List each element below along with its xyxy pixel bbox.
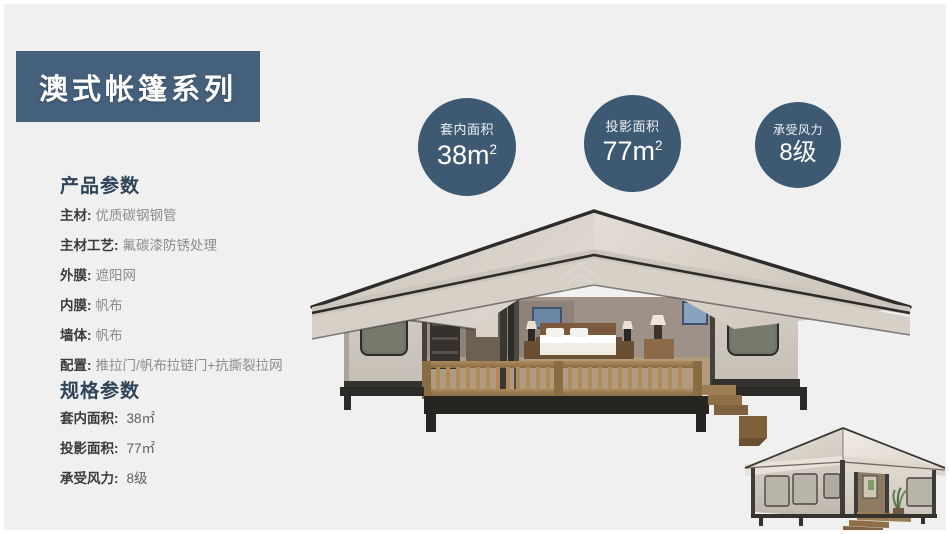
list-item: 墙体: 帆布 [60,324,283,344]
spec-key: 投影面积: [60,437,119,457]
slide-canvas: 澳式帐篷系列 产品参数 主材: 优质碳钢钢管 主材工艺: 氟碳漆防锈处理 外膜:… [0,0,950,534]
tent-exterior-thumbnail [739,416,950,534]
stat-label: 投影面积 [605,120,659,134]
param-key: 配置: [60,354,92,374]
param-key: 外膜: [60,264,92,284]
spec-params-list: 套内面积: 38㎡ 投影面积: 77㎡ 承受风力: 8级 [60,407,155,497]
spec-params-heading: 规格参数 [60,376,140,403]
param-key: 主材: [60,204,92,224]
product-params-list: 主材: 优质碳钢钢管 主材工艺: 氟碳漆防锈处理 外膜: 遮阳网 内膜: 帆布 … [60,204,283,384]
list-item: 主材: 优质碳钢钢管 [60,204,283,224]
param-key: 内膜: [60,294,92,314]
series-title-banner: 澳式帐篷系列 [16,51,260,122]
list-item: 主材工艺: 氟碳漆防锈处理 [60,234,283,254]
spec-value: 38㎡ [127,407,156,427]
param-key: 墙体: [60,324,92,344]
param-value: 帆布 [96,324,123,344]
series-title-text: 澳式帐篷系列 [39,66,237,108]
stat-value: 38m2 [437,140,497,171]
param-value: 推拉门/帆布拉链门+抗撕裂拉网 [96,354,283,374]
param-value: 氟碳漆防锈处理 [123,234,218,254]
list-item: 配置: 推拉门/帆布拉链门+抗撕裂拉网 [60,354,283,374]
param-value: 优质碳钢钢管 [96,204,177,224]
param-value: 帆布 [96,294,123,314]
spec-value: 8级 [127,467,148,487]
spec-key: 套内面积: [60,407,119,427]
spec-value: 77㎡ [127,437,156,457]
product-params-heading: 产品参数 [60,171,140,198]
stat-badge-interior-area: 套内面积 38m2 [418,98,516,196]
list-item: 外膜: 遮阳网 [60,264,283,284]
param-key: 主材工艺: [60,234,119,254]
list-item: 承受风力: 8级 [60,467,155,487]
list-item: 内膜: 帆布 [60,294,283,314]
list-item: 套内面积: 38㎡ [60,407,155,427]
list-item: 投影面积: 77㎡ [60,437,155,457]
stat-value: 8级 [779,139,816,167]
stat-badge-wind-resistance: 承受风力 8级 [755,102,841,188]
stat-badge-projected-area: 投影面积 77m2 [584,95,681,192]
stat-label: 套内面积 [440,123,494,137]
spec-key: 承受风力: [60,467,119,487]
stat-label: 承受风力 [773,124,823,137]
param-value: 遮阳网 [96,264,137,284]
stat-value: 77m2 [602,136,662,167]
